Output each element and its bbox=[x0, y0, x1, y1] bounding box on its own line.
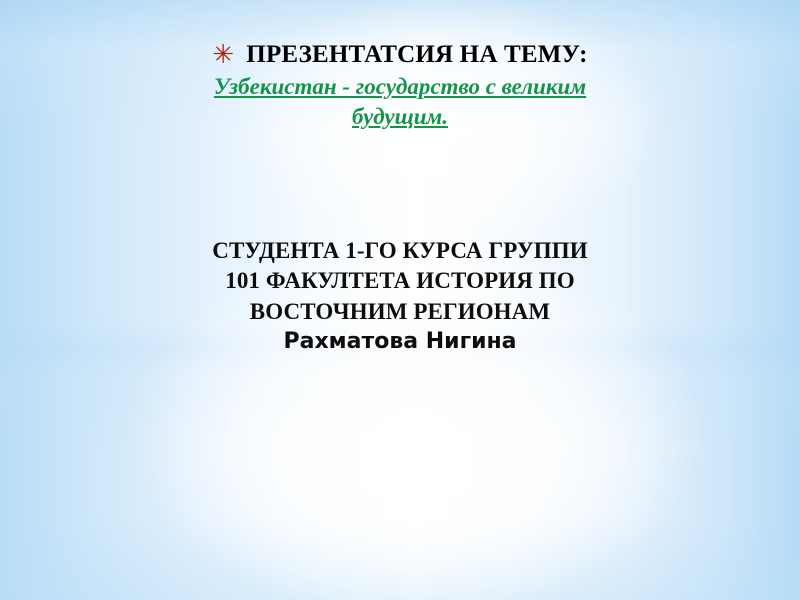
asterisk-bullet-icon: ✳ bbox=[212, 40, 234, 72]
author-name: Рахматова Нигина bbox=[150, 327, 650, 356]
author-line-1: СТУДЕНТА 1-ГО КУРСА ГРУППИ bbox=[150, 236, 650, 266]
slide-subtitle-line-1: Узбекистан - государство с великим bbox=[120, 72, 680, 102]
presentation-slide: ✳ПРЕЗЕНТАТСИЯ НА ТЕМУ: Узбекистан - госу… bbox=[0, 0, 800, 600]
author-text-box[interactable]: СТУДЕНТА 1-ГО КУРСА ГРУППИ 101 ФАКУЛТЕТА… bbox=[150, 236, 650, 357]
slide-subtitle-line-2: будущим. bbox=[120, 102, 680, 132]
slide-content: ✳ПРЕЗЕНТАТСИЯ НА ТЕМУ: Узбекистан - госу… bbox=[0, 0, 800, 600]
title-text-box[interactable]: ✳ПРЕЗЕНТАТСИЯ НА ТЕМУ: Узбекистан - госу… bbox=[120, 40, 680, 132]
page-title: ПРЕЗЕНТАТСИЯ НА ТЕМУ: bbox=[246, 41, 587, 68]
slide-title-line: ✳ПРЕЗЕНТАТСИЯ НА ТЕМУ: bbox=[120, 40, 680, 72]
author-line-3: ВОСТОЧНИМ РЕГИОНАМ bbox=[150, 297, 650, 327]
author-line-2: 101 ФАКУЛТЕТА ИСТОРИЯ ПО bbox=[150, 266, 650, 296]
